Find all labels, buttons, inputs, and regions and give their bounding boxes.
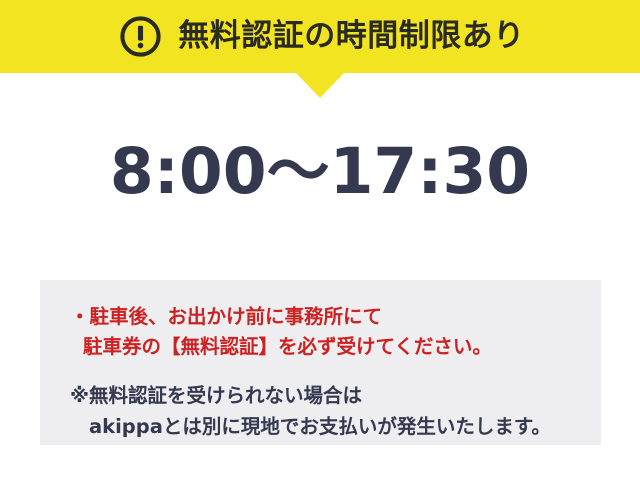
notice-red-line-1: ・駐車後、お出かけ前に事務所にて <box>70 305 382 328</box>
alert-banner-content: 無料認証の時間制限あり <box>119 15 525 58</box>
operating-hours-value: 8:00〜17:30 <box>0 140 640 203</box>
exclamation-circle-icon <box>119 15 162 58</box>
alert-banner-title: 無料認証の時間制限あり <box>178 21 525 52</box>
notice-red-line-2: 駐車券の【無料認証】を必ず受けてください。 <box>70 332 601 362</box>
notice-red-text: ・駐車後、お出かけ前に事務所にて 駐車券の【無料認証】を必ず受けてください。 <box>70 302 601 362</box>
operating-hours-section: 8:00〜17:30 <box>0 140 640 203</box>
notice-box: ・駐車後、お出かけ前に事務所にて 駐車券の【無料認証】を必ず受けてください。 ※… <box>40 280 601 445</box>
banner-pointer-triangle <box>296 73 344 98</box>
notice-dark-line-2: akippaとは別に現地でお支払いが発生いたします。 <box>70 412 601 442</box>
notice-dark-line-1: ※無料認証を受けられない場合は <box>70 384 362 407</box>
notice-dark-text: ※無料認証を受けられない場合は akippaとは別に現地でお支払いが発生いたしま… <box>70 381 601 441</box>
alert-banner: 無料認証の時間制限あり <box>0 0 640 73</box>
